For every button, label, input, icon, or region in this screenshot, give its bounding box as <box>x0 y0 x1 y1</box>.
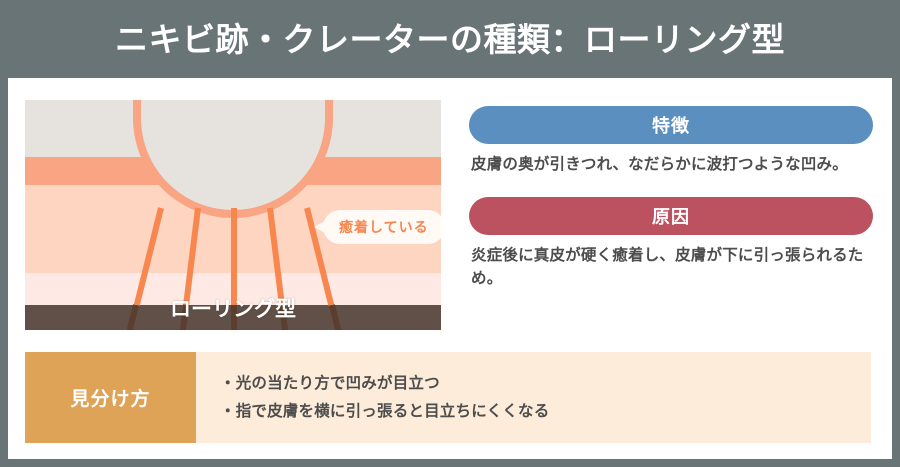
section-spacer <box>469 177 873 197</box>
header-banner: ニキビ跡・クレーターの種類：ローリング型 <box>0 0 900 78</box>
how-to-tell-body: ・光の当たり方で凹みが目立つ ・指で皮膚を横に引っ張ると目立ちにくくなる <box>196 352 871 443</box>
how-to-tell-section: 見分け方 ・光の当たり方で凹みが目立つ ・指で皮膚を横に引っ張ると目立ちにくくな… <box>25 352 871 443</box>
feature-description: 皮膚の奥が引きつれ、なだらかに波打つような凹み。 <box>471 153 873 177</box>
badge-cause: 原因 <box>469 197 873 235</box>
page-title: ニキビ跡・クレーターの種類：ローリング型 <box>115 23 785 56</box>
how-to-tell-bullet-1: ・光の当たり方で凹みが目立つ <box>220 370 871 397</box>
badge-feature: 特徴 <box>469 106 873 144</box>
info-column: 特徴 皮膚の奥が引きつれ、なだらかに波打つような凹み。 原因 炎症後に真皮が硬く… <box>469 106 873 291</box>
infographic-poster: ニキビ跡・クレーターの種類：ローリング型 <box>0 0 900 467</box>
content-card: 癒着している ローリング型 特徴 皮膚の奥が引きつれ、なだらかに波打つような凹み… <box>8 78 892 459</box>
how-to-tell-label: 見分け方 <box>25 352 196 443</box>
illustration-type-label: ローリング型 <box>25 293 441 323</box>
how-to-tell-bullet-2: ・指で皮膚を横に引っ張ると目立ちにくくなる <box>220 398 871 425</box>
adhesion-callout-bubble: 癒着している <box>323 210 441 244</box>
cause-description: 炎症後に真皮が硬く癒着し、皮膚が下に引っ張られるため。 <box>471 244 873 291</box>
skin-cross-section-illustration: 癒着している ローリング型 <box>25 100 441 330</box>
callout-tail-icon <box>314 221 325 233</box>
callout-text: 癒着している <box>339 217 429 237</box>
